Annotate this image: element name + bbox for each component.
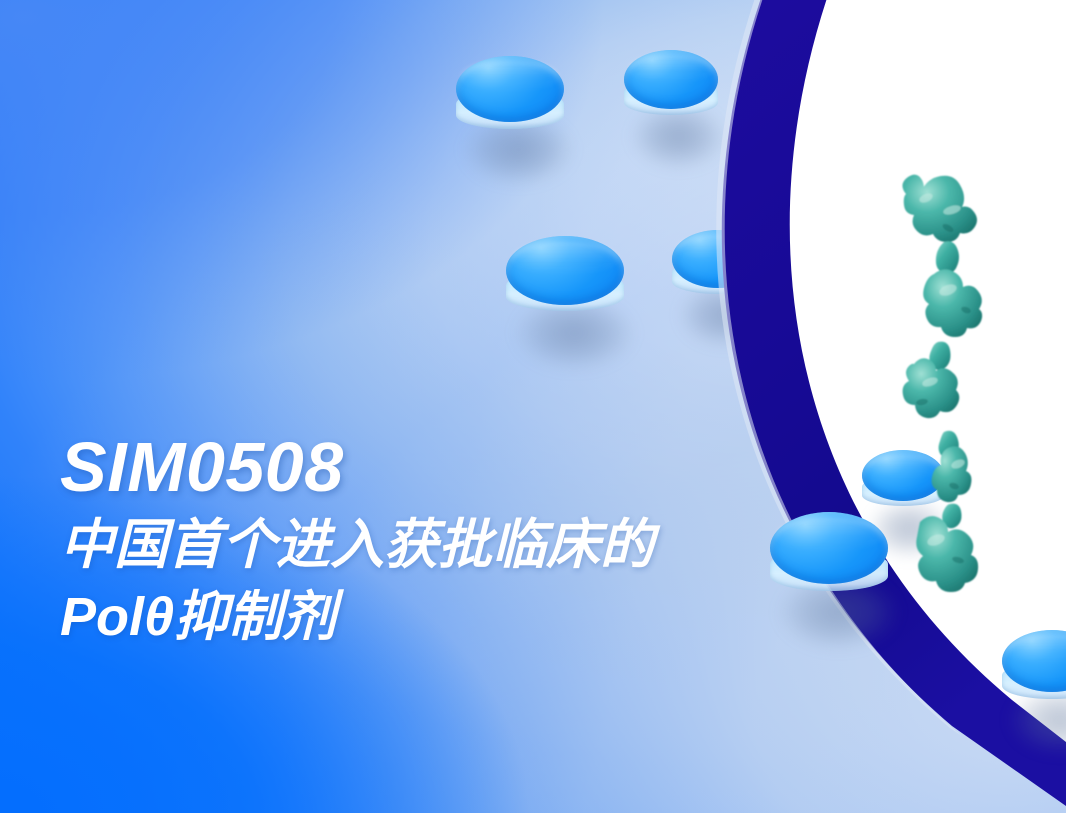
tablet-mid-left [506,236,624,350]
tablet-mid-right [672,230,764,330]
poster-canvas: SIM0508 中国首个进入获批临床的 Polθ抑制剂 [0,0,1066,813]
tablet-bottom-right [1002,630,1066,736]
tablet-specular-highlight [511,241,620,276]
title-block: SIM0508 中国首个进入获批临床的 Polθ抑制剂 [60,432,820,654]
page-subtitle-line-2: Polθ抑制剂 [60,582,820,654]
page-subtitle-line-1: 中国首个进入获批临床的 [60,515,654,575]
tablet-specular-highlight [676,234,761,263]
page-title: SIM0508 [60,432,820,502]
tablet-top-right [624,50,718,152]
page-subtitle: 中国首个进入获批临床的 Polθ抑制剂 [60,510,820,654]
polymerase-theta-protein-structure [878,150,1066,570]
tablet-specular-highlight [628,54,714,84]
tablet-top-left [456,56,564,166]
